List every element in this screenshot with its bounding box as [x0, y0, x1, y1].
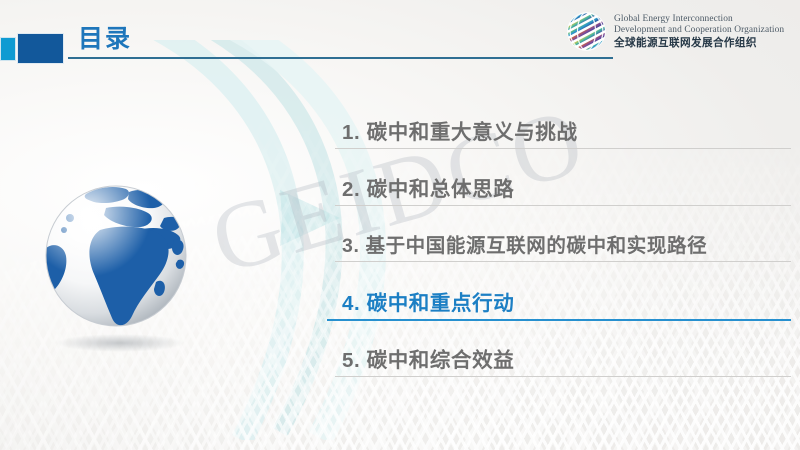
logo-english-line-2: Development and Cooperation Organization — [614, 25, 784, 36]
table-of-contents: 1. 碳中和重大意义与挑战 2. 碳中和总体思路 3. 基于中国能源互联网的碳中… — [335, 96, 790, 382]
globe-illustration — [28, 178, 228, 378]
toc-item-underline — [335, 148, 791, 149]
toc-item-underline-active — [327, 319, 791, 321]
presentation-slide: GEIDCO 目录 — [0, 0, 800, 450]
logo-english-line-1: Global Energy Interconnection — [614, 14, 784, 25]
globe-stripes-logo-icon — [566, 11, 607, 52]
toc-item-label: 5. 碳中和综合效益 — [342, 343, 514, 373]
header-divider — [68, 57, 613, 59]
toc-item-underline — [335, 205, 791, 206]
toc-item-underline — [335, 376, 791, 377]
toc-item-4[interactable]: 4. 碳中和重点行动 — [335, 267, 790, 325]
toc-item-3[interactable]: 3. 基于中国能源互联网的碳中和实现路径 — [335, 211, 790, 267]
globe-3d-illustration-icon — [28, 178, 228, 378]
header-marker-dark — [17, 33, 64, 64]
header-marker-light — [0, 37, 16, 61]
organization-logo: Global Energy Interconnection Developmen… — [566, 11, 784, 52]
toc-item-1[interactable]: 1. 碳中和重大意义与挑战 — [335, 96, 790, 154]
toc-item-2[interactable]: 2. 碳中和总体思路 — [335, 154, 790, 212]
page-title: 目录 — [78, 19, 132, 55]
toc-item-label: 3. 基于中国能源互联网的碳中和实现路径 — [342, 229, 707, 258]
logo-chinese-name: 全球能源互联网发展合作组织 — [614, 37, 784, 50]
toc-item-label: 1. 碳中和重大意义与挑战 — [342, 115, 578, 145]
toc-item-5[interactable]: 5. 碳中和综合效益 — [335, 325, 790, 383]
toc-item-label: 4. 碳中和重点行动 — [342, 286, 514, 316]
toc-item-underline — [335, 261, 791, 262]
toc-item-label: 2. 碳中和总体思路 — [342, 172, 514, 202]
